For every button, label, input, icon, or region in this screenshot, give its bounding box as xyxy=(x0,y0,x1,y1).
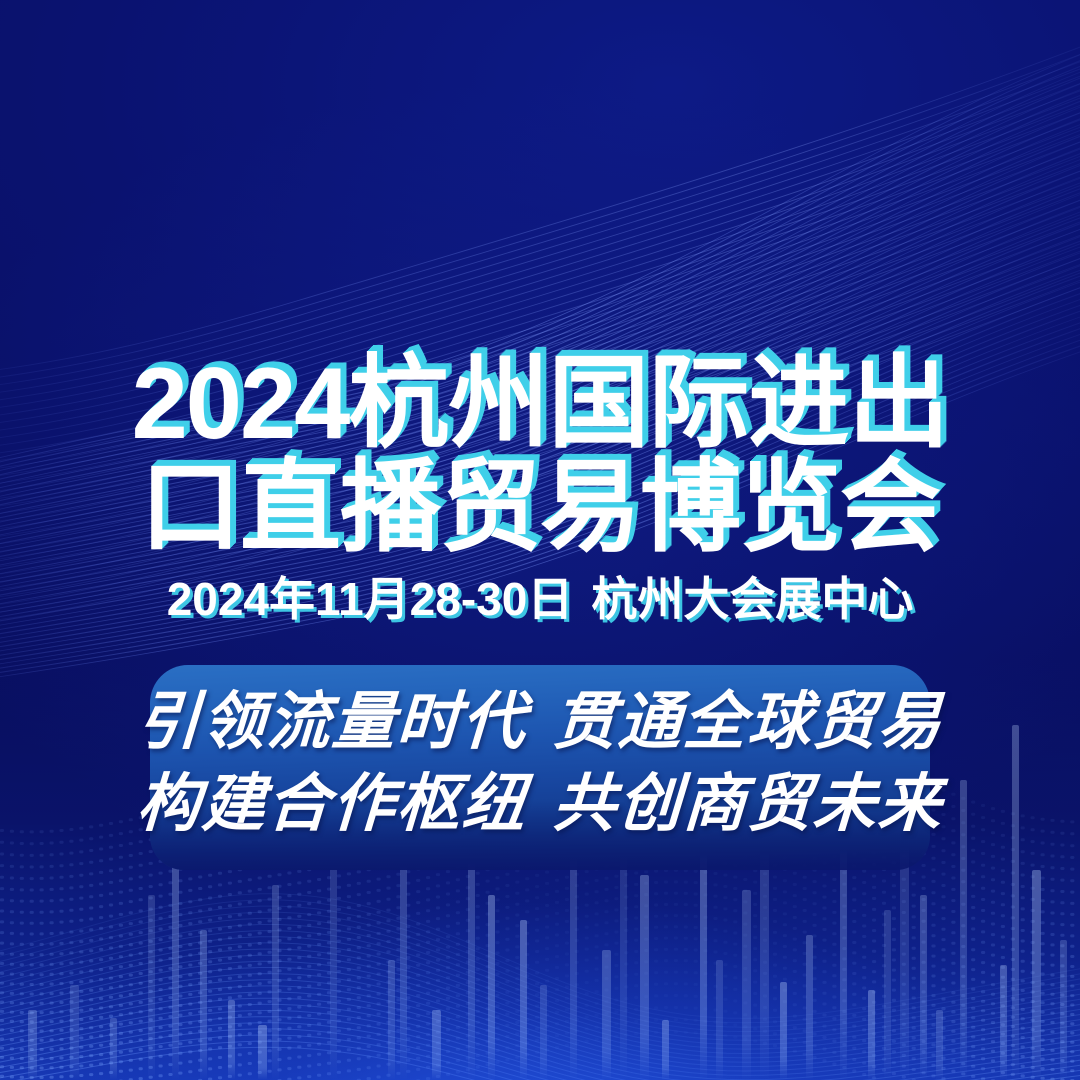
slogan-line-2: 构建合作枢纽共创商贸未来 xyxy=(0,762,1080,844)
title-line-1-text: 杭州国际进出 xyxy=(348,348,948,460)
title-line-2: 口直播贸易博览会 xyxy=(0,456,1080,560)
title-year: 2024 xyxy=(132,348,349,460)
slogan-2b: 共创商贸未来 xyxy=(551,766,945,840)
slogan-1b: 贯通全球贸易 xyxy=(551,684,945,758)
slogan-2a: 构建合作枢纽 xyxy=(135,766,529,840)
event-poster: 2024杭州国际进出 口直播贸易博览会 2024年11月28-30日杭州大会展中… xyxy=(0,0,1080,1080)
date-venue-line: 2024年11月28-30日杭州大会展中心 xyxy=(0,573,1080,625)
slogan-1a: 引领流量时代 xyxy=(135,684,529,758)
slogan-text-block: 引领流量时代贯通全球贸易 构建合作枢纽共创商贸未来 xyxy=(0,680,1080,844)
event-venue: 杭州大会展中心 xyxy=(591,573,913,625)
poster-title: 2024杭州国际进出 口直播贸易博览会 xyxy=(0,352,1080,560)
slogan-line-1: 引领流量时代贯通全球贸易 xyxy=(0,680,1080,762)
event-date: 2024年11月28-30日 xyxy=(167,573,574,625)
title-line-1: 2024杭州国际进出 xyxy=(0,352,1080,456)
